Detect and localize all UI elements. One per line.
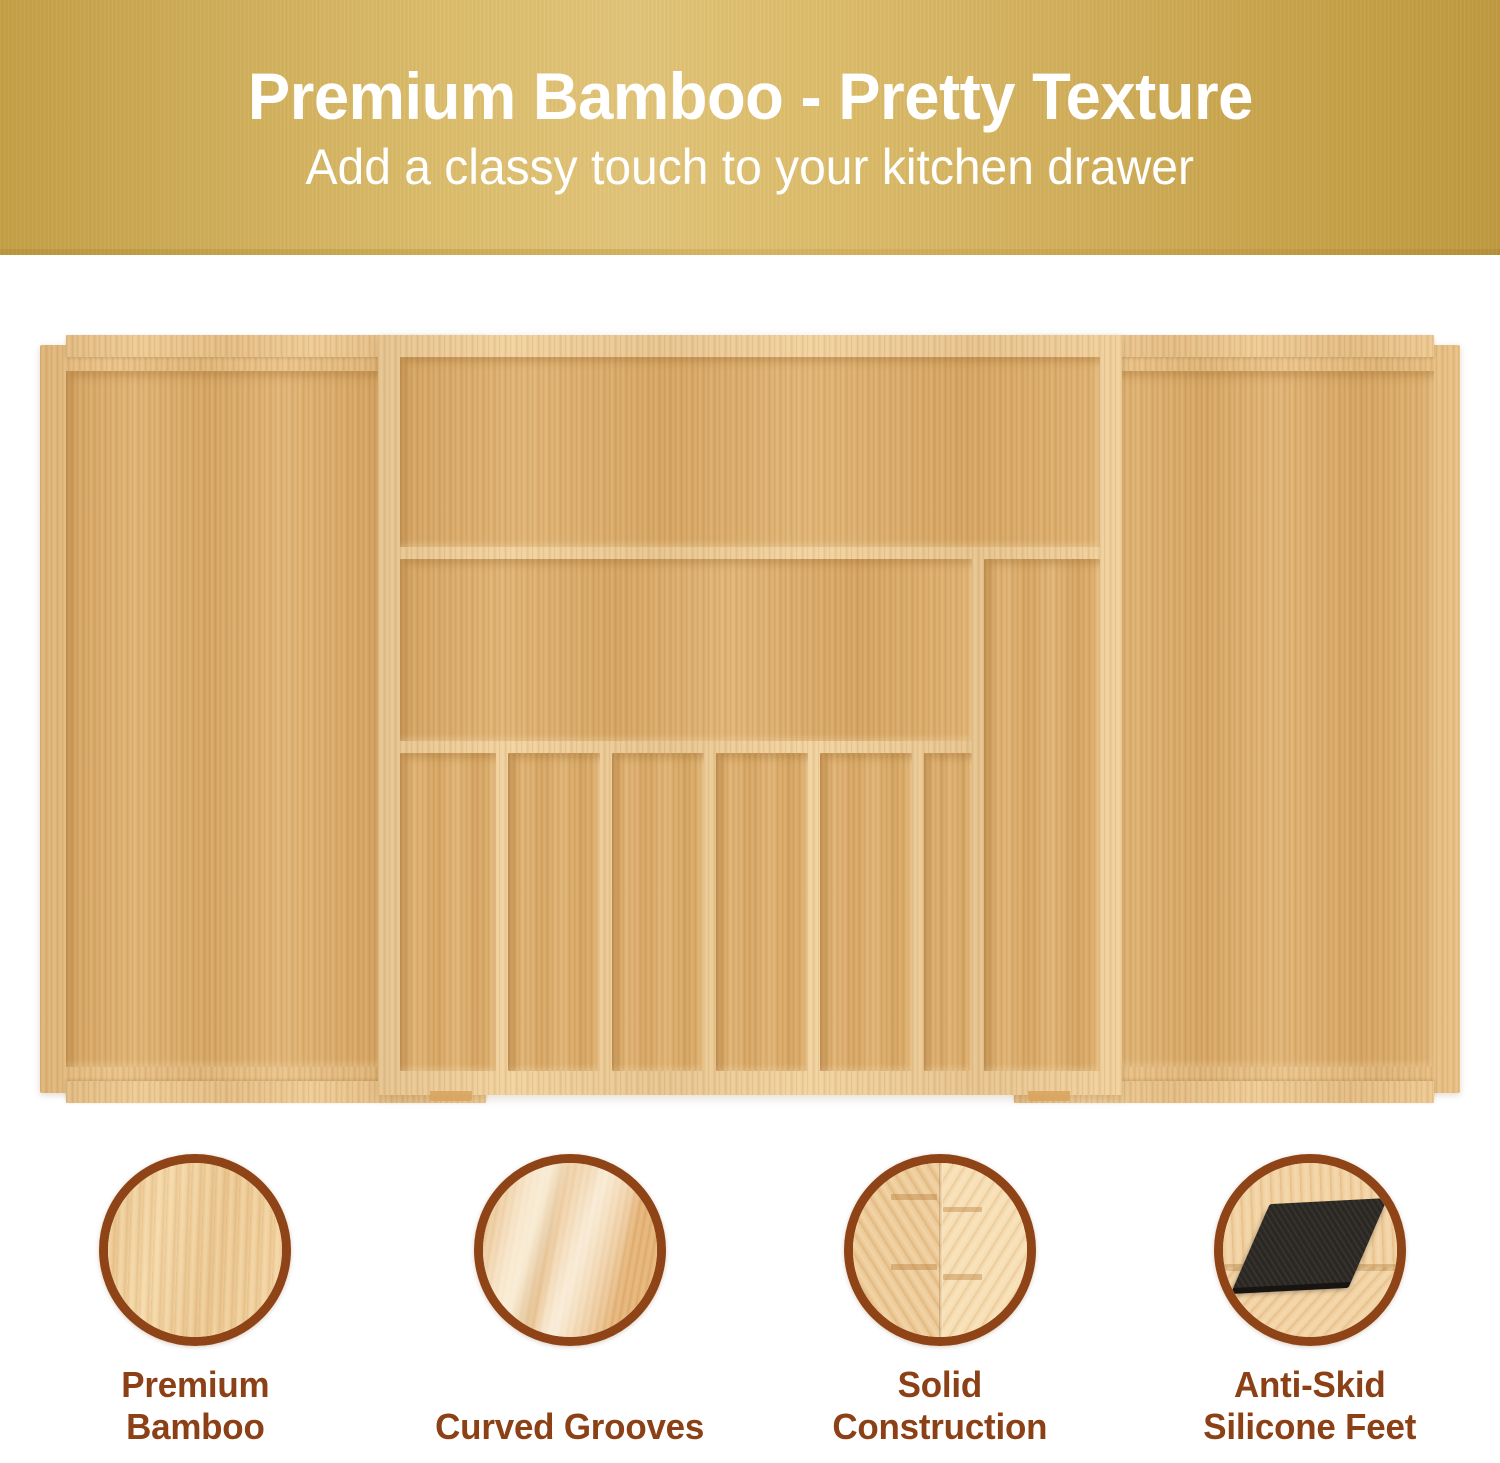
center-tray-body (378, 335, 1122, 1095)
utensil-slot-2 (508, 753, 600, 1071)
feature-curved-grooves: Curved Grooves (420, 1140, 720, 1449)
feature-label-line2: Construction (833, 1406, 1048, 1447)
compartment-top-wide (400, 357, 1100, 547)
feature-label-line2: Bamboo (126, 1406, 265, 1447)
feature-label-line1: Premium (121, 1364, 269, 1405)
utensil-slot-6 (924, 753, 972, 1071)
feature-premium-bamboo: Premium Bamboo (45, 1140, 345, 1449)
utensil-slot-3 (612, 753, 704, 1071)
tray-foot-left (430, 1091, 472, 1101)
curved-groove-icon (474, 1154, 666, 1346)
bamboo-grain-icon (99, 1154, 291, 1346)
utensil-slot-4 (716, 753, 808, 1071)
compartment-middle-wide (400, 559, 972, 741)
silicone-pad-icon (1214, 1154, 1406, 1346)
banner-headline: Premium Bamboo - Pretty Texture (247, 62, 1252, 131)
tray-foot-right (1028, 1091, 1070, 1101)
feature-label-line1: Solid (898, 1364, 982, 1405)
utensil-slot-5 (820, 753, 912, 1071)
feature-label-anti-skid-silicone-feet: Anti-Skid Silicone Feet (1204, 1364, 1417, 1449)
center-tray-interior (392, 349, 1108, 1081)
corner-joint-icon (844, 1154, 1036, 1346)
feature-label-solid-construction: Solid Construction (833, 1364, 1048, 1449)
compartment-tall-right (984, 559, 1100, 1071)
bamboo-drawer-organizer (40, 335, 1460, 1095)
feature-anti-skid-silicone-feet: Anti-Skid Silicone Feet (1160, 1140, 1460, 1449)
feature-label-curved-grooves: Curved Grooves (436, 1364, 705, 1449)
product-image (0, 255, 1500, 1135)
feature-label-premium-bamboo: Premium Bamboo (121, 1364, 269, 1449)
feature-highlights-row: Premium Bamboo Curved Grooves (0, 1140, 1500, 1463)
header-banner: Premium Bamboo - Pretty Texture Add a cl… (0, 0, 1500, 255)
feature-label-line2: Silicone Feet (1204, 1406, 1417, 1447)
feature-label-line1: Anti-Skid (1234, 1364, 1386, 1405)
feature-label-line2: Curved Grooves (436, 1406, 705, 1447)
banner-subheadline: Add a classy touch to your kitchen drawe… (306, 141, 1194, 194)
feature-solid-construction: Solid Construction (790, 1140, 1090, 1449)
utensil-slot-1 (400, 753, 496, 1071)
